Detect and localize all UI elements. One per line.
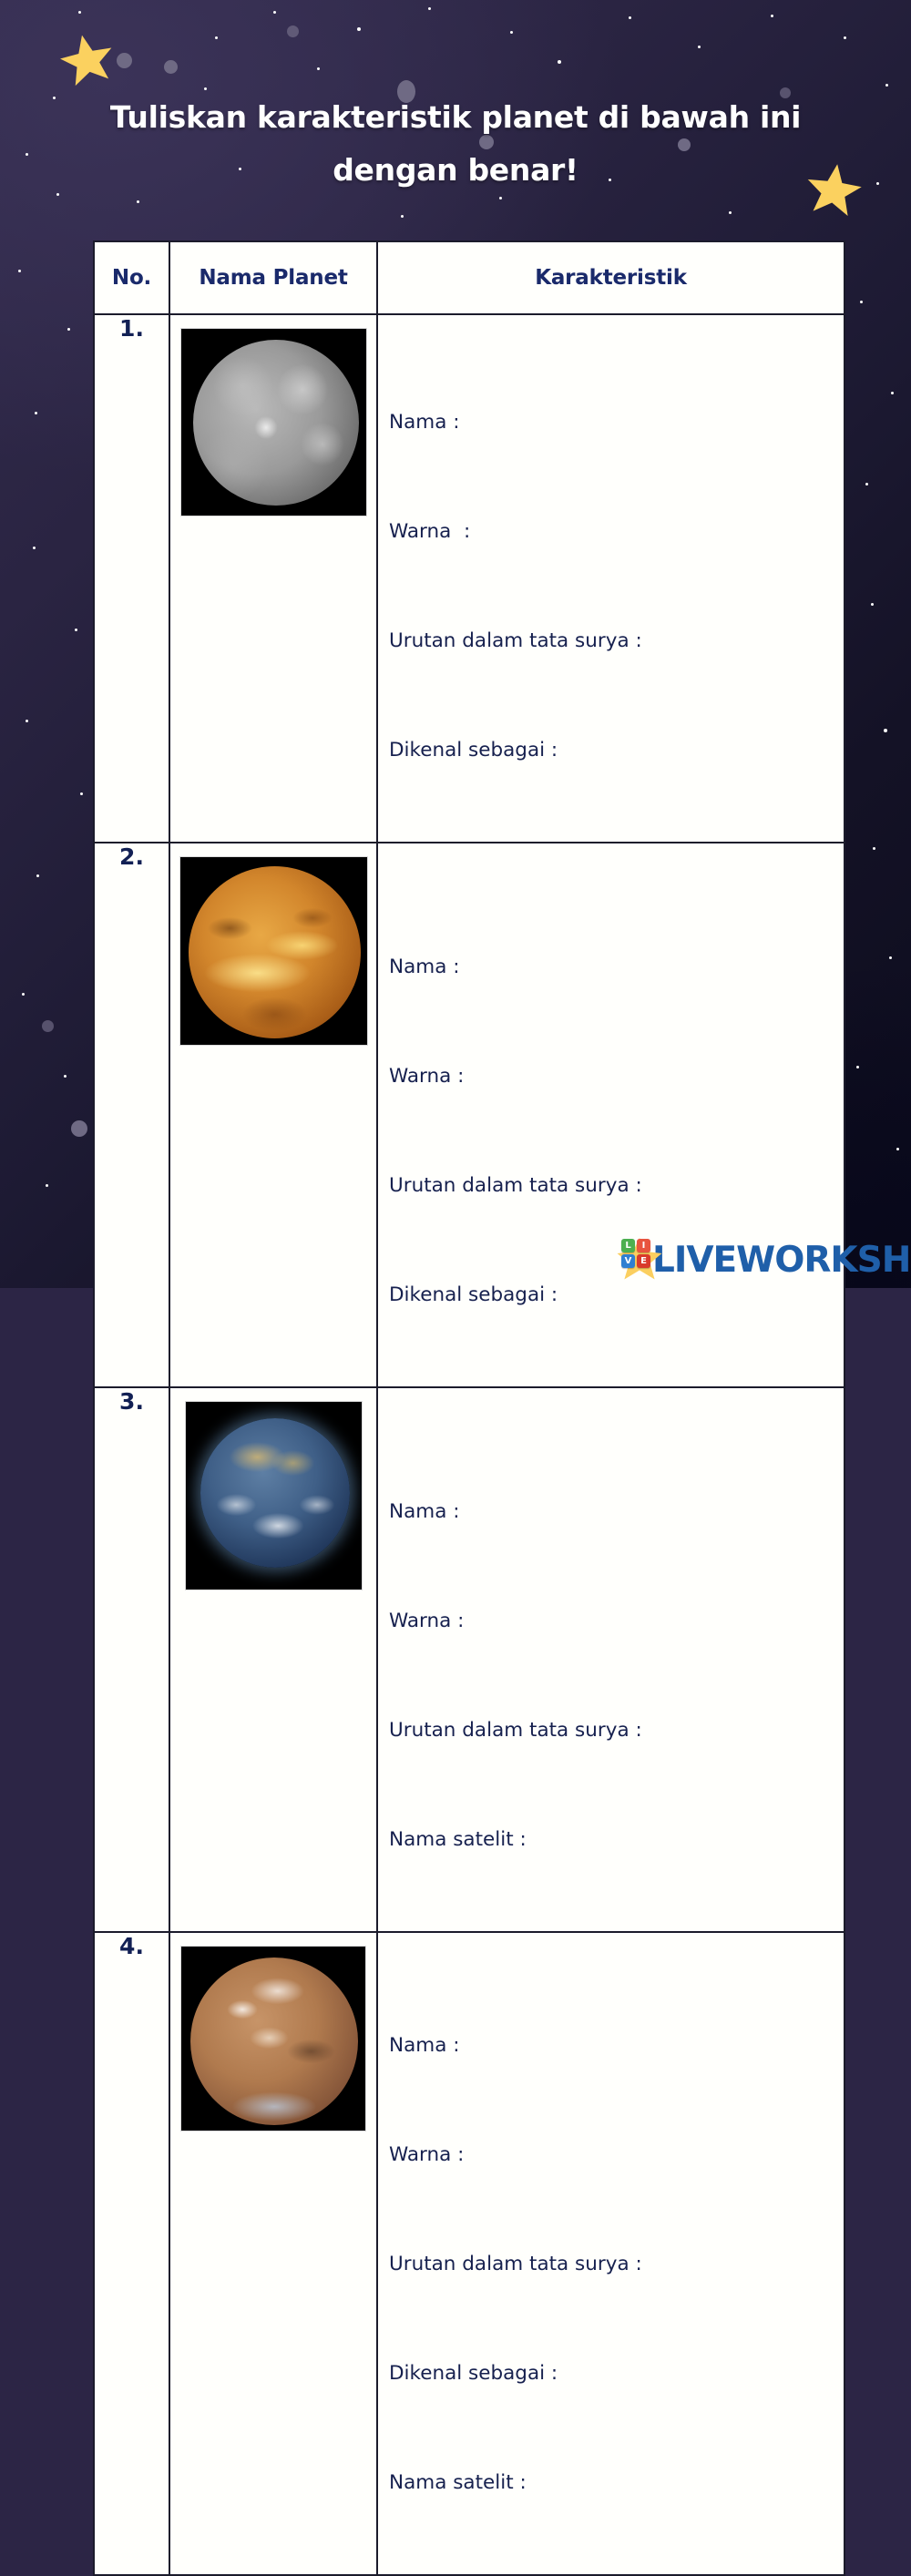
- star-dot: [873, 847, 875, 850]
- characteristics-list: Nama : Warna : Urutan dalam tata surya :…: [378, 1388, 844, 1931]
- star-dot: [876, 182, 879, 185]
- star-dot: [46, 1184, 48, 1187]
- star-dot: [18, 270, 21, 272]
- row-number: 1.: [94, 314, 169, 843]
- table-header-row: No. Nama Planet Karakteristik: [94, 241, 844, 314]
- star-dot: [401, 215, 404, 218]
- column-header-no: No.: [94, 241, 169, 314]
- characteristics-cell: Nama : Warna : Urutan dalam tata surya :…: [377, 1932, 844, 2575]
- star-dot: [698, 46, 701, 48]
- page-title-line2: dengan benar!: [55, 144, 856, 197]
- star-dot: [856, 1066, 859, 1068]
- characteristics-list: Nama : Warna : Urutan dalam tata surya :…: [378, 843, 844, 1386]
- field-label: Dikenal sebagai :: [389, 2356, 844, 2392]
- star-dot: [510, 31, 513, 34]
- liveworksheets-wordmark: LIVEWORKSHEETS: [652, 1240, 911, 1281]
- star-dot: [137, 200, 139, 203]
- venus-globe: [189, 866, 361, 1038]
- star-dot: [204, 87, 207, 90]
- star-dot: [80, 792, 83, 795]
- planet-image-cell: [169, 1932, 377, 2575]
- star-dot: [75, 629, 77, 631]
- star-dot: [78, 11, 81, 14]
- star-dot: [26, 153, 28, 156]
- worksheet-table: No. Nama Planet Karakteristik 1. Nama : …: [93, 240, 845, 2576]
- mars-globe: [190, 1958, 358, 2125]
- star-dot: [629, 16, 631, 19]
- field-label: Nama :: [389, 2028, 844, 2064]
- field-label: Warna :: [389, 1603, 844, 1640]
- star-dot: [64, 1075, 67, 1078]
- planet-image-cell: [169, 843, 377, 1387]
- star-dot: [273, 11, 276, 14]
- field-label: Nama satelit :: [389, 1822, 844, 1858]
- star-dot: [499, 197, 502, 199]
- star-dot: [67, 328, 70, 331]
- star-dot: [558, 60, 561, 64]
- characteristics-cell: Nama : Warna : Urutan dalam tata surya :…: [377, 314, 844, 843]
- worksheet-table-container: No. Nama Planet Karakteristik 1. Nama : …: [93, 240, 845, 1221]
- star-dot: [357, 27, 361, 31]
- field-label: Nama :: [389, 1494, 844, 1530]
- row-number: 4.: [94, 1932, 169, 2575]
- star-dot: [860, 301, 863, 303]
- column-header-nama-planet: Nama Planet: [169, 241, 377, 314]
- star-dot: [891, 392, 894, 394]
- logo-block-v: V: [621, 1254, 635, 1268]
- star-dot: [729, 211, 732, 214]
- field-label: Warna :: [389, 2137, 844, 2173]
- row-number: 2.: [94, 843, 169, 1387]
- earth-globe: [200, 1418, 350, 1568]
- star-dot: [428, 7, 431, 10]
- star-dot: [36, 874, 39, 877]
- characteristics-list: Nama : Warna : Urutan dalam tata surya :…: [378, 315, 844, 842]
- field-label: Urutan dalam tata surya :: [389, 1168, 844, 1204]
- star-dot: [771, 15, 773, 17]
- characteristics-cell: Nama : Warna : Urutan dalam tata surya :…: [377, 1387, 844, 1932]
- bubble-decoration: [287, 26, 299, 37]
- earth-planet-image: [185, 1401, 363, 1590]
- table-row: 1. Nama : Warna : Urutan dalam tata sury…: [94, 314, 844, 843]
- mercury-globe: [193, 340, 359, 506]
- planet-image-cell: [169, 1387, 377, 1932]
- liveworksheets-star-icon: L I V E: [616, 1237, 663, 1283]
- star-dot: [26, 720, 28, 722]
- star-dot: [865, 483, 868, 486]
- star-dot: [885, 84, 888, 87]
- star-dot: [33, 547, 36, 549]
- liveworksheets-logo[interactable]: L I V E LIVEWORKSHEETS: [616, 1237, 911, 1283]
- star-dot: [884, 729, 887, 732]
- column-header-karakteristik: Karakteristik: [377, 241, 844, 314]
- star-dot: [35, 412, 37, 414]
- bubble-decoration: [42, 1020, 54, 1032]
- field-label: Warna :: [389, 514, 844, 550]
- bubble-decoration: [117, 53, 132, 68]
- venus-planet-image: [179, 856, 368, 1046]
- mars-planet-image: [180, 1946, 366, 2131]
- field-label: Warna :: [389, 1058, 844, 1095]
- field-label: Dikenal sebagai :: [389, 732, 844, 769]
- table-row: 4. Nama : Warna : Urutan dalam tata sury…: [94, 1932, 844, 2575]
- field-label: Nama satelit :: [389, 2465, 844, 2501]
- logo-block-i: I: [637, 1239, 650, 1252]
- field-label: Nama :: [389, 949, 844, 986]
- table-row: 3. Nama : Warna : Urutan dalam tata sury…: [94, 1387, 844, 1932]
- star-dot: [215, 36, 218, 39]
- star-dot: [317, 67, 320, 70]
- field-label: Dikenal sebagai :: [389, 1277, 844, 1314]
- bubble-decoration: [164, 60, 178, 74]
- logo-block-e: E: [637, 1254, 650, 1268]
- star-dot: [889, 956, 892, 959]
- characteristics-list: Nama : Warna : Urutan dalam tata surya :…: [378, 1933, 844, 2574]
- field-label: Urutan dalam tata surya :: [389, 1712, 844, 1749]
- logo-letter-blocks: L I V E: [621, 1239, 650, 1268]
- field-label: Urutan dalam tata surya :: [389, 623, 844, 659]
- characteristics-cell: Nama : Warna : Urutan dalam tata surya :…: [377, 843, 844, 1387]
- star-dot: [896, 1148, 899, 1150]
- page-title-line1: Tuliskan karakteristik planet di bawah i…: [55, 91, 856, 144]
- star-dot: [844, 36, 846, 39]
- bubble-decoration: [71, 1120, 87, 1137]
- row-number: 3.: [94, 1387, 169, 1932]
- page-title: Tuliskan karakteristik planet di bawah i…: [55, 91, 856, 197]
- field-label: Nama :: [389, 404, 844, 441]
- table-row: 2. Nama : Warna : Urutan dalam tata sury…: [94, 843, 844, 1387]
- star-dot: [22, 993, 25, 996]
- star-dot: [871, 603, 874, 606]
- field-label: Urutan dalam tata surya :: [389, 2246, 844, 2283]
- logo-block-l: L: [621, 1239, 635, 1252]
- planet-image-cell: [169, 314, 377, 843]
- mercury-planet-image: [180, 328, 367, 516]
